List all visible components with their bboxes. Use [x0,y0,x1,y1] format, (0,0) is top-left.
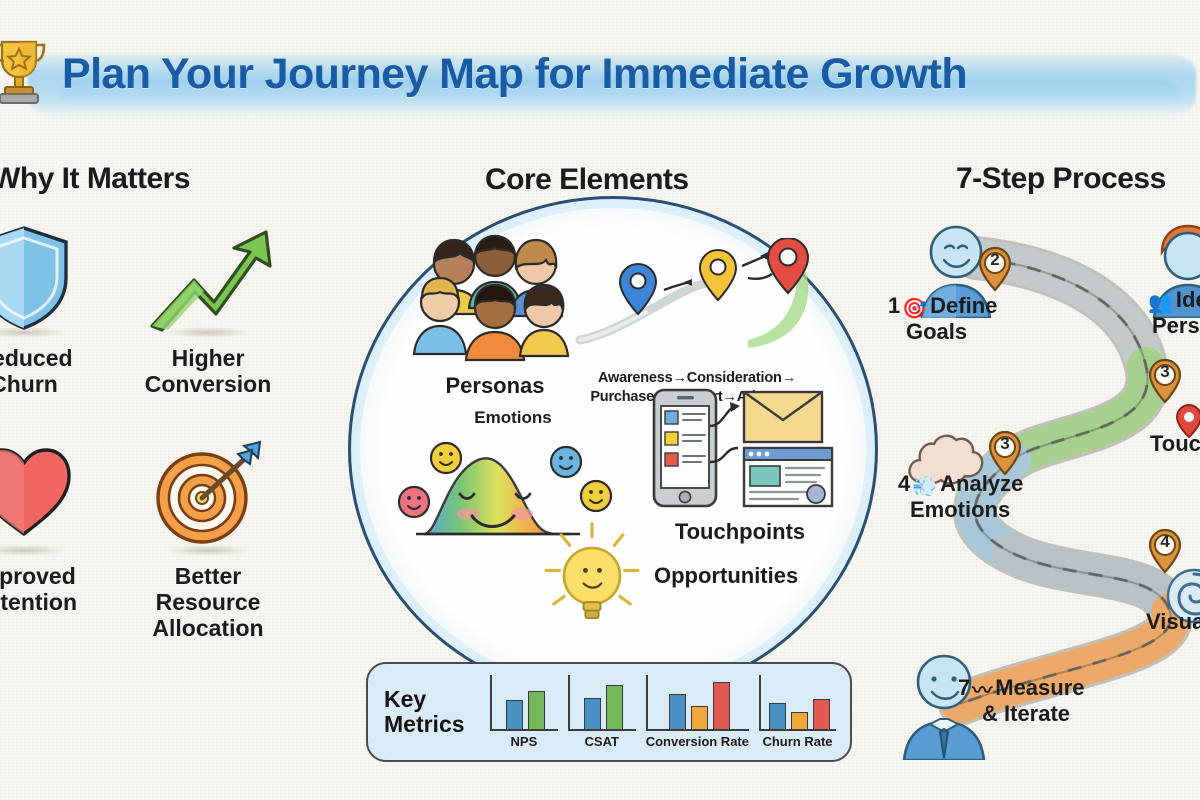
road-marker-4-number: 4 [1148,532,1182,552]
benefit-better-resource-allocation: Better Resource Allocation [122,440,294,641]
road-marker-3-left-number: 3 [988,434,1022,454]
benefit-higher-conversion: Higher Conversion [122,222,294,398]
benefit-improved-retention: Improved Retention [0,440,110,616]
metric-chart [759,675,836,731]
benefit-label: Reduced Churn [0,346,110,398]
benefit-label: Higher Conversion [122,346,294,398]
metric-chart [568,675,636,731]
step-6-visualize: Visualize [1146,610,1200,635]
shield-icon [0,222,74,334]
icon-shadow [0,545,67,556]
metric-label: Conversion Rate [646,734,749,749]
core-element-personas: Personas [400,228,590,399]
growth-arrow-icon [138,222,278,334]
trophy-icon [0,34,56,108]
page-title: Plan Your Journey Map for Immediate Grow… [62,50,1200,99]
metric-chart [646,675,749,731]
key-metrics-panel: Key Metrics NPS CSAT Conversion Rate [366,662,852,762]
metric-chart [490,675,558,731]
icon-shadow [165,327,251,338]
target-arrow-icon [148,440,268,552]
target-icon: 🎯 [902,298,927,320]
benefit-reduced-churn: Reduced Churn [0,222,110,398]
emotions-label: Emotions [398,408,628,428]
step-3-map-touchpoints: Touchpoints [1150,432,1200,457]
metric-group-churn-rate: Churn Rate [759,675,836,749]
metric-label: Churn Rate [762,734,832,749]
icon-shadow [165,545,251,556]
infographic-canvas: Plan Your Journey Map for Immediate Grow… [0,0,1200,800]
metric-group-nps: NPS [490,675,558,749]
metric-label: NPS [511,734,538,749]
bar [691,706,708,729]
road-marker-3-number: 3 [1148,362,1182,382]
metric-label: CSAT [585,734,619,749]
road-marker-2-number: 2 [978,250,1012,270]
bar [791,712,808,729]
section-heading-core-elements: Core Elements [485,163,689,197]
step-1-define-goals: 1🎯Define Goals [888,294,997,345]
bar [606,685,623,729]
bar [506,700,523,729]
bar [584,698,601,729]
step-4-analyze-emotions: 4💨Analyze Emotions [898,472,1023,523]
core-element-journey-stages: Awareness→Consideration→ Purchase→Suppor… [572,238,822,407]
heart-icon [0,440,79,542]
bar [528,691,545,729]
cloud-emoji-icon: 💨 [912,476,937,498]
people-icon: 👥 [1148,292,1173,314]
metric-group-conversion-rate: Conversion Rate [646,675,749,749]
core-element-label: Personas [400,373,590,399]
bar [813,699,830,729]
core-element-opportunities: Opportunities [540,520,830,632]
step-7-measure-iterate: 7〰Measure & Iterate [958,676,1085,727]
core-element-label: Opportunities [654,563,798,589]
step-2-identify-personas: 👥Identify Personas [1148,288,1200,339]
wave-icon: 〰 [972,680,992,702]
phone-email-browser-icon [640,386,840,514]
people-group-icon [400,228,590,368]
bar [713,682,730,729]
key-metrics-title: Key Metrics [384,687,480,737]
benefit-label: Improved Retention [0,564,110,616]
section-heading-seven-step-process: 7-Step Process [956,162,1166,196]
icon-shadow [0,327,67,338]
benefit-label: Better Resource Allocation [122,564,294,641]
bar [669,694,686,729]
map-pin-path-icon [572,238,822,360]
lightbulb-icon [540,520,644,632]
bar [769,703,786,729]
section-heading-why-it-matters: Why It Matters [0,162,190,196]
metric-group-csat: CSAT [568,675,636,749]
